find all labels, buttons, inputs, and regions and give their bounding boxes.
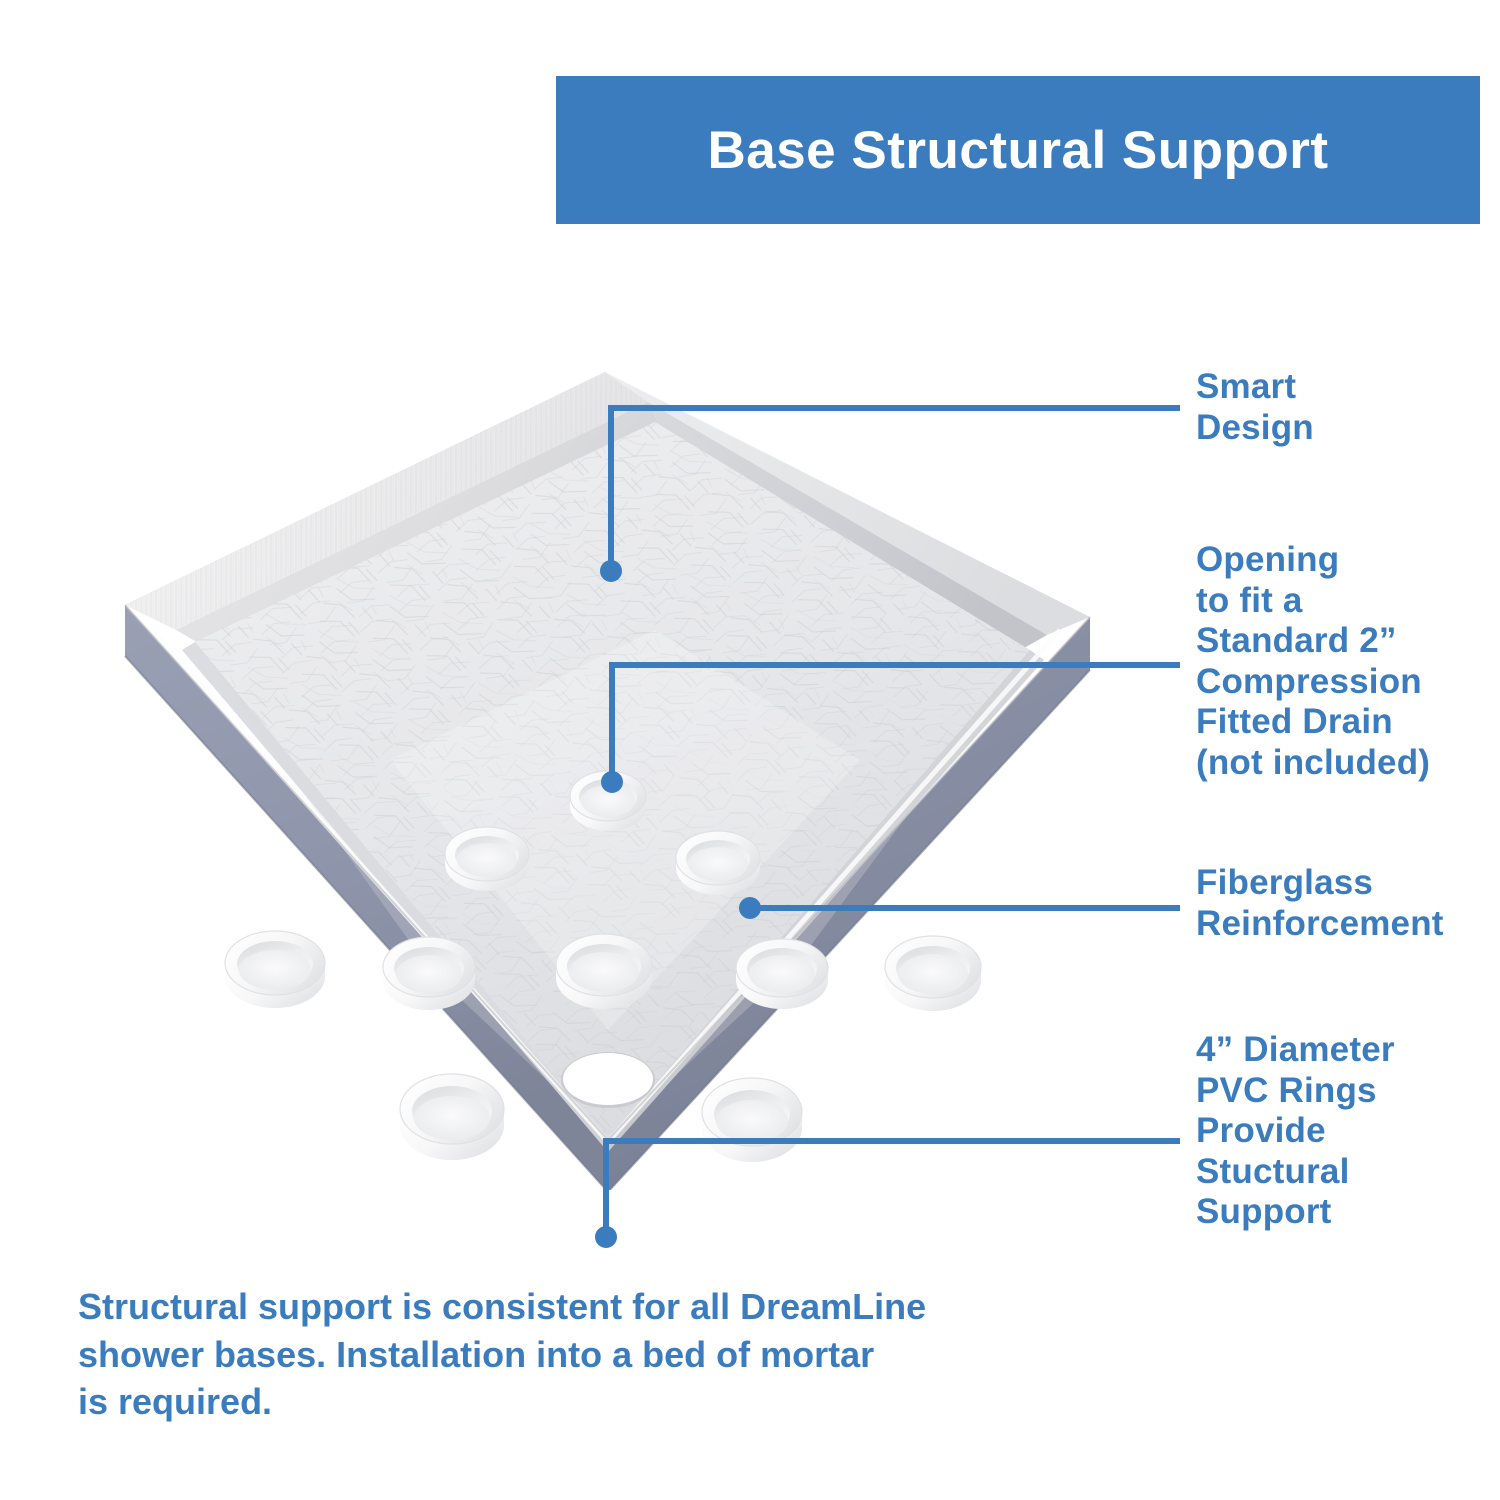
pvc-ring [400, 1074, 504, 1160]
pvc-ring [885, 936, 981, 1011]
pvc-ring [676, 831, 760, 895]
shower-base-illustration [0, 330, 1200, 1190]
pvc-ring [702, 1078, 802, 1162]
infographic-canvas: Base Structural Support [0, 0, 1500, 1500]
pvc-ring [570, 771, 646, 831]
drain-opening-hole [563, 1053, 653, 1105]
pvc-ring [445, 827, 529, 891]
pvc-ring [556, 934, 652, 1009]
leader-dot-pvc-rings [595, 1226, 617, 1248]
page-title: Base Structural Support [707, 124, 1328, 177]
pvc-ring [736, 939, 828, 1009]
callout-label-pvc-rings: 4” Diameter PVC Rings Provide Stuctural … [1196, 1030, 1496, 1233]
callout-label-smart-design: Smart Design [1196, 367, 1496, 448]
pvc-ring [225, 931, 325, 1008]
pvc-ring [383, 937, 475, 1010]
callout-label-drain-opening: Opening to fit a Standard 2” Compression… [1196, 540, 1496, 784]
callout-label-fiberglass: Fiberglass Reinforcement [1196, 863, 1496, 944]
drain-opening [561, 1052, 655, 1108]
footer-note: Structural support is consistent for all… [78, 1283, 998, 1426]
header-banner: Base Structural Support [556, 76, 1480, 224]
shower-base-tray [125, 372, 1090, 1190]
